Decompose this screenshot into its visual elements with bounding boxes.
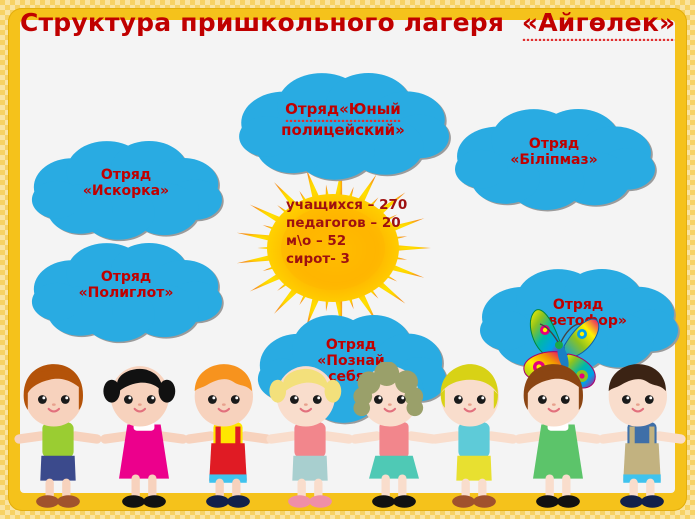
child-figure [264,362,356,514]
child-figure [182,362,274,514]
cloud-shape [30,140,222,228]
child-figure [512,362,604,514]
kid-5 [348,362,440,519]
stat-mo: м\о – 52 [286,232,454,250]
cloud-shape [237,72,449,167]
kid-1 [12,362,104,519]
stat-teachers: педагогов – 20 [286,214,454,232]
children-row [0,359,695,519]
kid-7 [512,362,604,519]
page-title-text: Структура пришкольного лагеря «Айгөлек» [20,8,675,37]
stat-students: учащихся – 270 [286,196,454,214]
kid-3 [182,362,274,519]
cloud-shape [30,242,222,330]
cloud-poliglot[interactable]: Отряд«Полиглот» [30,242,222,330]
child-figure [596,362,688,514]
page-title-camp-name: «Айгөлек» [522,8,675,41]
cloud-yunyi-policeyskiy[interactable]: Отряд«Юныйполицейский» [237,72,449,167]
child-figure [12,362,104,514]
page-title: Структура пришкольного лагеря «Айгөлек» [20,8,675,37]
kid-8 [596,362,688,519]
sun-statistics-text: учащихся – 270 педагогов – 20 м\о – 52 с… [286,196,454,268]
cloud-iskorka[interactable]: Отряд«Искорка» [30,140,222,228]
cloud-bilipmaz[interactable]: Отряд«Біліпмаз» [453,108,655,198]
kid-2 [98,362,190,519]
child-figure [348,362,440,514]
slide-canvas: Структура пришкольного лагеря «Айгөлек» [0,0,695,519]
child-figure [428,362,520,514]
page-title-plain: Структура пришкольного лагеря [20,8,504,37]
kid-6 [428,362,520,519]
child-figure [98,362,190,514]
stat-orphans: сирот- 3 [286,250,454,268]
kid-4 [264,362,356,519]
cloud-shape [453,108,655,198]
